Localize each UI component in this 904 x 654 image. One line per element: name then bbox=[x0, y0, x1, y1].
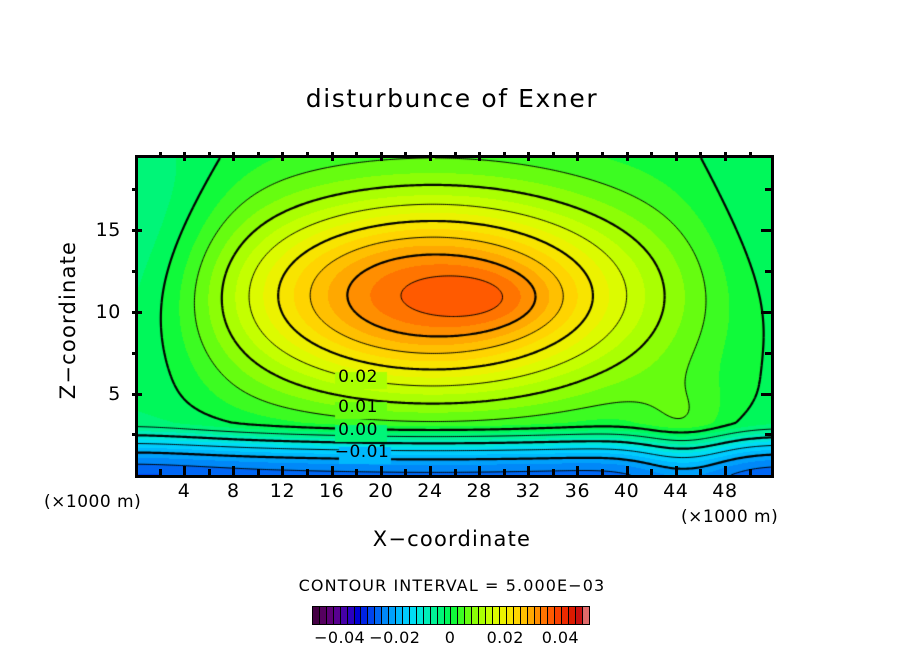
colorbar-cell bbox=[424, 607, 431, 624]
axis-tick-mark bbox=[281, 152, 284, 161]
y-axis-title: Z−coordinate bbox=[56, 230, 80, 410]
x-axis-tick-label: 4 bbox=[164, 480, 204, 502]
x-axis-tick-label: 32 bbox=[508, 480, 548, 502]
colorbar-cell bbox=[410, 607, 417, 624]
y-axis-tick-label: 10 bbox=[81, 301, 121, 323]
colorbar-tick-label: 0.04 bbox=[525, 628, 595, 647]
colorbar-cell bbox=[445, 607, 452, 624]
x-axis-tick-label: 48 bbox=[705, 480, 745, 502]
colorbar-cell bbox=[548, 607, 555, 624]
colorbar-cell bbox=[368, 607, 375, 624]
axis-tick-mark bbox=[257, 469, 260, 475]
axis-tick-mark bbox=[331, 152, 334, 161]
axis-tick-mark bbox=[749, 469, 752, 475]
colorbar-cell bbox=[576, 607, 583, 624]
colorbar-cell bbox=[541, 607, 548, 624]
axis-tick-mark bbox=[306, 469, 309, 475]
axis-tick-mark bbox=[765, 433, 771, 436]
colorbar-cell bbox=[521, 607, 528, 624]
axis-tick-mark bbox=[650, 469, 653, 475]
inline-contour-label: 0.00 bbox=[334, 420, 382, 440]
axis-tick-mark bbox=[601, 469, 604, 475]
axis-tick-mark bbox=[404, 469, 407, 475]
x-axis-tick-label: 44 bbox=[656, 480, 696, 502]
colorbar-cell bbox=[528, 607, 535, 624]
x-axis-tick-label: 24 bbox=[410, 480, 450, 502]
axis-tick-mark bbox=[601, 152, 604, 158]
colorbar-cell bbox=[458, 607, 465, 624]
colorbar bbox=[312, 606, 590, 625]
axis-tick-mark bbox=[576, 466, 579, 475]
axis-tick-mark bbox=[675, 152, 678, 161]
x-axis-tick-label: 12 bbox=[262, 480, 302, 502]
colorbar-cell bbox=[348, 607, 355, 624]
inline-contour-label: 0.02 bbox=[334, 367, 382, 387]
axis-tick-mark bbox=[699, 152, 702, 158]
colorbar-cell bbox=[486, 607, 493, 624]
axis-tick-mark bbox=[761, 393, 771, 396]
axis-tick-mark bbox=[765, 188, 771, 191]
colorbar-cell bbox=[327, 607, 334, 624]
contour-plot-area bbox=[135, 155, 774, 478]
axis-tick-mark bbox=[183, 466, 186, 475]
axis-tick-mark bbox=[355, 152, 358, 158]
axis-tick-mark bbox=[626, 466, 629, 475]
axis-tick-mark bbox=[132, 311, 142, 314]
colorbar-cell bbox=[438, 607, 445, 624]
axis-tick-mark bbox=[257, 152, 260, 158]
contour-interval-label: CONTOUR INTERVAL = 5.000E−03 bbox=[0, 576, 904, 595]
y-axis-tick-label: 5 bbox=[81, 383, 121, 405]
axis-tick-mark bbox=[132, 188, 138, 191]
x-axis-tick-label: 8 bbox=[213, 480, 253, 502]
axis-tick-mark bbox=[699, 469, 702, 475]
x-axis-tick-label: 36 bbox=[557, 480, 597, 502]
x-axis-tick-label: 40 bbox=[607, 480, 647, 502]
axis-tick-mark bbox=[183, 152, 186, 161]
axis-tick-mark bbox=[429, 152, 432, 161]
axis-tick-mark bbox=[132, 270, 138, 273]
axis-tick-mark bbox=[527, 152, 530, 161]
x-axis-unit-right: (×1000 m) bbox=[681, 507, 778, 527]
axis-tick-mark bbox=[552, 469, 555, 475]
axis-tick-mark bbox=[675, 466, 678, 475]
colorbar-cell bbox=[403, 607, 410, 624]
colorbar-cell bbox=[507, 607, 514, 624]
axis-tick-mark bbox=[724, 152, 727, 161]
colorbar-cell bbox=[451, 607, 458, 624]
colorbar-cell bbox=[465, 607, 472, 624]
axis-tick-mark bbox=[749, 152, 752, 158]
x-axis-tick-label: 20 bbox=[361, 480, 401, 502]
contour-figure: disturbunce of Exner 4812162024283236404… bbox=[0, 0, 904, 654]
colorbar-cell bbox=[472, 607, 479, 624]
axis-tick-mark bbox=[208, 469, 211, 475]
axis-tick-mark bbox=[232, 466, 235, 475]
axis-tick-mark bbox=[761, 229, 771, 232]
colorbar-cell bbox=[514, 607, 521, 624]
colorbar-cell bbox=[555, 607, 562, 624]
contour-canvas bbox=[138, 158, 771, 475]
inline-contour-label: 0.01 bbox=[334, 397, 382, 417]
colorbar-cell bbox=[341, 607, 348, 624]
colorbar-cell bbox=[493, 607, 500, 624]
axis-tick-mark bbox=[429, 466, 432, 475]
axis-tick-mark bbox=[576, 152, 579, 161]
colorbar-cell bbox=[431, 607, 438, 624]
colorbar-cell bbox=[479, 607, 486, 624]
axis-tick-mark bbox=[404, 152, 407, 158]
colorbar-cell bbox=[396, 607, 403, 624]
colorbar-cell bbox=[355, 607, 362, 624]
axis-tick-mark bbox=[380, 152, 383, 161]
axis-tick-mark bbox=[132, 229, 142, 232]
axis-tick-mark bbox=[355, 469, 358, 475]
axis-tick-mark bbox=[552, 152, 555, 158]
axis-tick-mark bbox=[132, 352, 138, 355]
axis-tick-mark bbox=[527, 466, 530, 475]
axis-tick-mark bbox=[306, 152, 309, 158]
axis-tick-mark bbox=[380, 466, 383, 475]
axis-tick-mark bbox=[761, 311, 771, 314]
axis-tick-mark bbox=[132, 393, 142, 396]
y-axis-tick-label: 15 bbox=[81, 219, 121, 241]
axis-tick-mark bbox=[281, 466, 284, 475]
page-title: disturbunce of Exner bbox=[0, 84, 904, 113]
axis-tick-mark bbox=[765, 270, 771, 273]
colorbar-cell bbox=[313, 607, 320, 624]
x-axis-title: X−coordinate bbox=[0, 527, 904, 551]
colorbar-cell bbox=[389, 607, 396, 624]
colorbar-cell bbox=[569, 607, 576, 624]
colorbar-cell bbox=[417, 607, 424, 624]
colorbar-cell bbox=[334, 607, 341, 624]
axis-tick-mark bbox=[626, 152, 629, 161]
colorbar-cell bbox=[535, 607, 542, 624]
axis-tick-mark bbox=[454, 152, 457, 158]
colorbar-cell bbox=[361, 607, 368, 624]
axis-tick-mark bbox=[132, 433, 138, 436]
colorbar-cell bbox=[500, 607, 507, 624]
axis-tick-mark bbox=[765, 352, 771, 355]
axis-tick-mark bbox=[232, 152, 235, 161]
axis-tick-mark bbox=[159, 152, 162, 158]
inline-contour-label: −0.01 bbox=[331, 442, 394, 462]
x-axis-unit-left: (×1000 m) bbox=[44, 492, 141, 512]
colorbar-cell bbox=[375, 607, 382, 624]
axis-tick-mark bbox=[331, 466, 334, 475]
x-axis-tick-label: 28 bbox=[459, 480, 499, 502]
axis-tick-mark bbox=[208, 152, 211, 158]
axis-tick-mark bbox=[478, 152, 481, 161]
colorbar-cell bbox=[562, 607, 569, 624]
colorbar-cell bbox=[382, 607, 389, 624]
axis-tick-mark bbox=[159, 469, 162, 475]
axis-tick-mark bbox=[650, 152, 653, 158]
axis-tick-mark bbox=[478, 466, 481, 475]
colorbar-cell bbox=[583, 607, 589, 624]
axis-tick-mark bbox=[503, 469, 506, 475]
axis-tick-mark bbox=[724, 466, 727, 475]
x-axis-tick-label: 16 bbox=[312, 480, 352, 502]
axis-tick-mark bbox=[454, 469, 457, 475]
axis-tick-mark bbox=[503, 152, 506, 158]
colorbar-cell bbox=[320, 607, 327, 624]
